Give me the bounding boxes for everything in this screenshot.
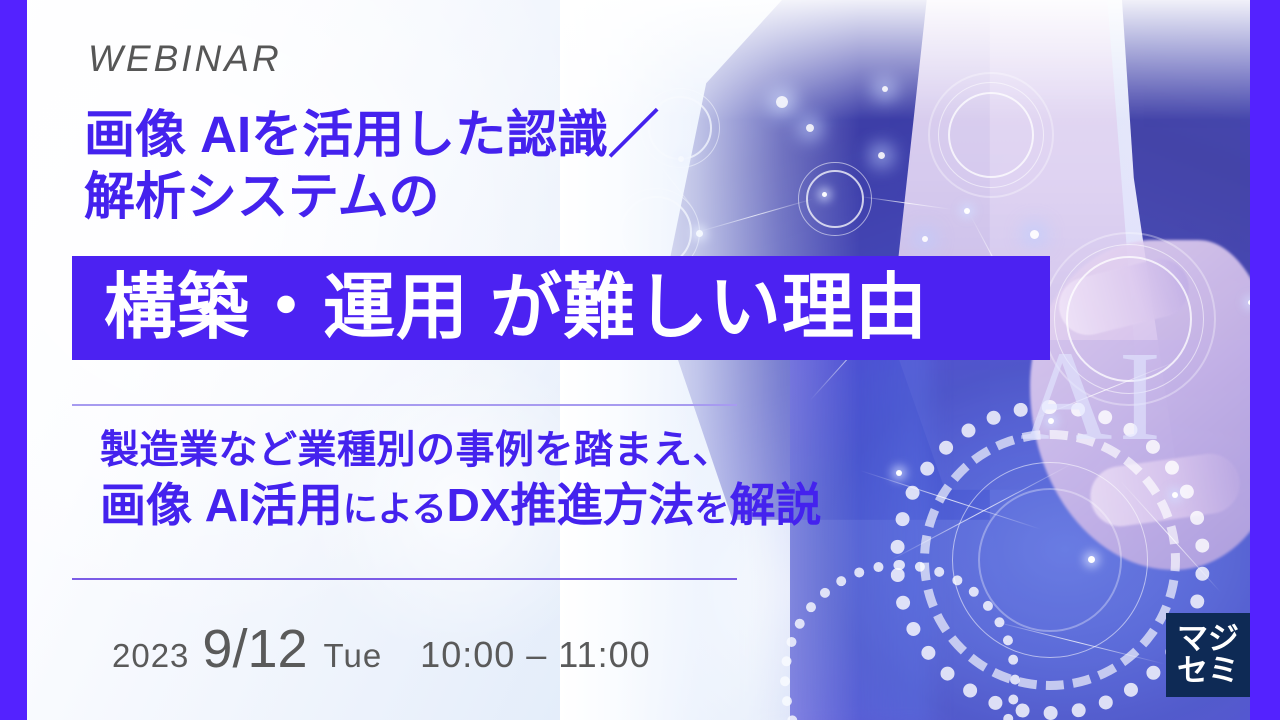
main-title-line-1: 画像 AIを活用した認識／ [84, 104, 659, 166]
subtitle-part-1: 画像 AI活用 [100, 479, 343, 531]
majiseminar-logo: マジ セミ [1166, 613, 1250, 697]
main-title: 画像 AIを活用した認識／ 解析システムの [84, 104, 659, 228]
subtitle-part-2: による [343, 490, 447, 529]
subtitle-part-4: を [695, 490, 730, 529]
subtitle-part-5: 解説 [729, 479, 821, 531]
event-datetime: 2023 9/12 Tue 10:00 – 11:00 [112, 618, 651, 680]
event-time-range: 10:00 – 11:00 [420, 634, 651, 676]
subtitle: 製造業など業種別の事例を踏まえ、 画像 AI活用によるDX推進方法を解説 [100, 428, 821, 532]
highlight-text: 構築・運用 が難しい理由 [104, 272, 928, 344]
content-layer: WEBINAR 画像 AIを活用した認識／ 解析システムの 構築・運用 が難しい… [0, 0, 1280, 720]
subtitle-line-2: 画像 AI活用によるDX推進方法を解説 [100, 478, 821, 532]
event-month-day: 9/12 [202, 618, 307, 680]
divider-bottom [72, 578, 737, 580]
webinar-banner: AI WEBINAR 画像 AIを活用した認識／ 解析システムの 構築・運用 が… [0, 0, 1280, 720]
subtitle-line-1: 製造業など業種別の事例を踏まえ、 [100, 428, 821, 474]
logo-line-2: セミ [1177, 655, 1239, 687]
highlight-band: 構築・運用 が難しい理由 [72, 256, 1050, 360]
logo-line-1: マジ [1177, 623, 1239, 655]
webinar-kicker: WEBINAR [88, 40, 282, 77]
divider-top [72, 404, 737, 406]
event-day-of-week: Tue [324, 637, 383, 675]
main-title-line-2: 解析システムの [84, 166, 659, 228]
event-year: 2023 [112, 637, 189, 675]
subtitle-part-3: DX推進方法 [447, 479, 695, 531]
